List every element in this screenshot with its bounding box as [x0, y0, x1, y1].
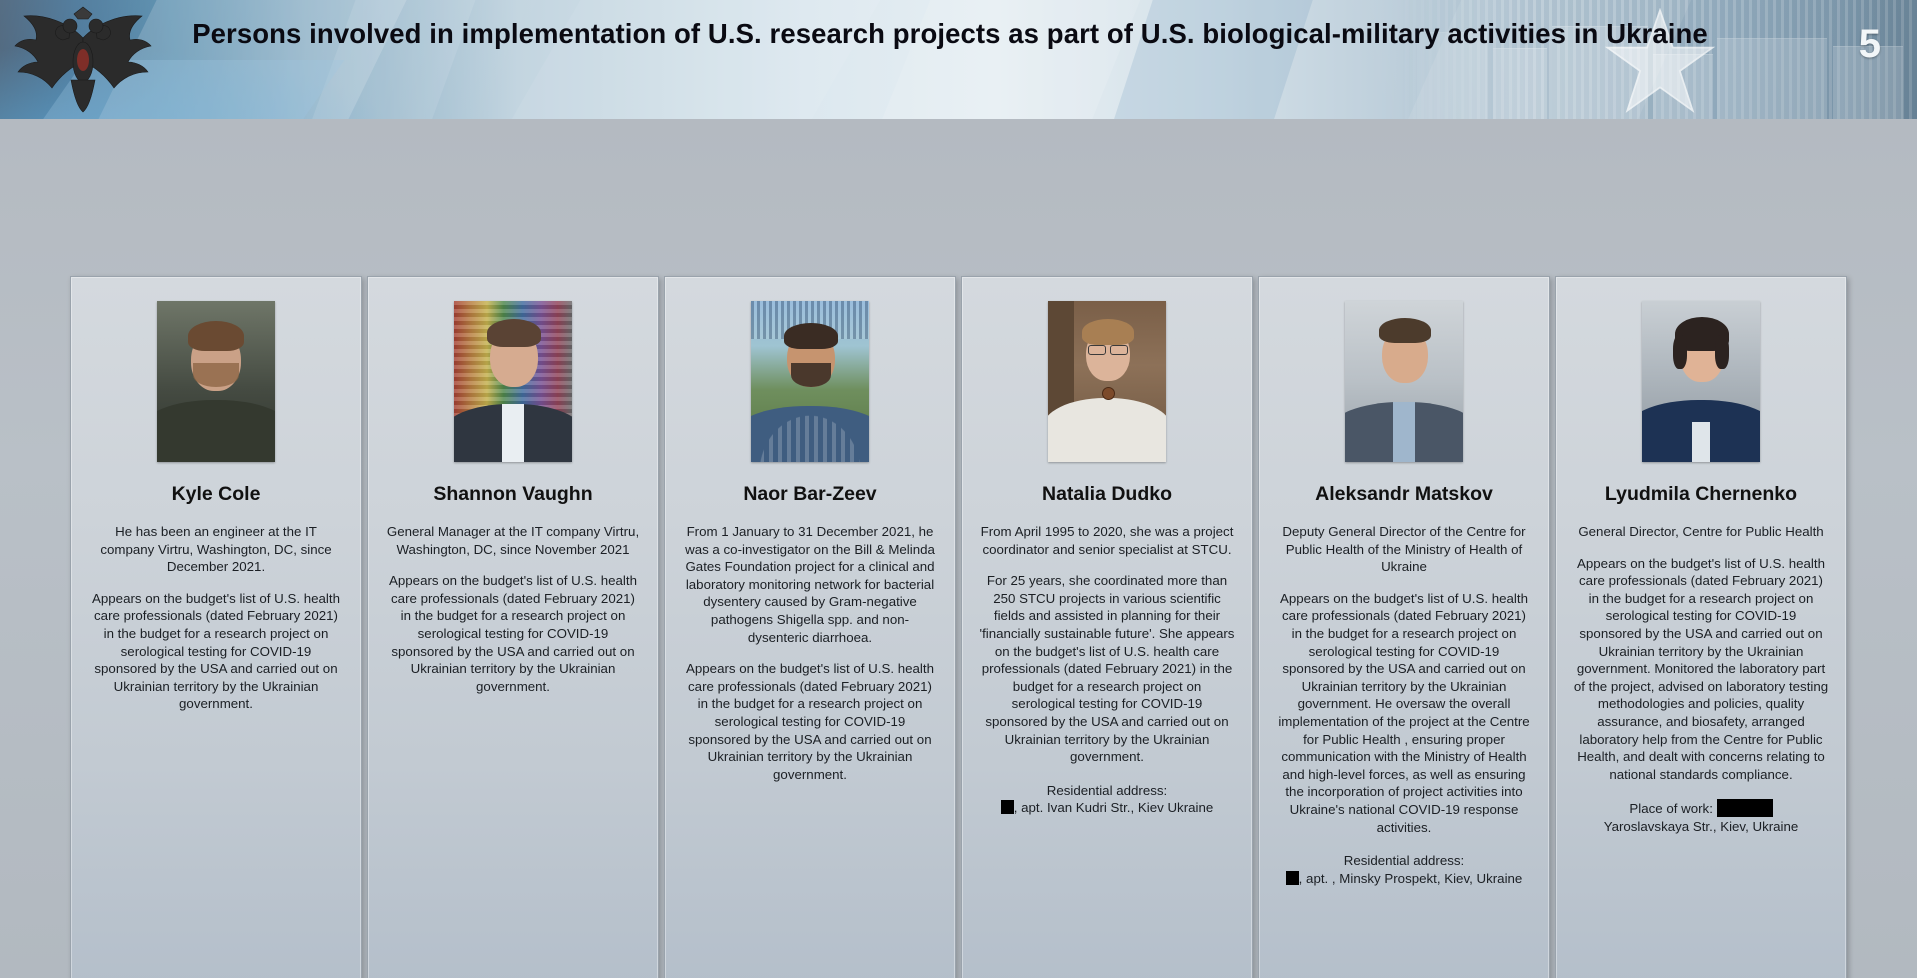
place-of-work-text: Yaroslavskaya Str., Kiev, Ukraine	[1574, 818, 1829, 836]
person-paragraph: From April 1995 to 2020, she was a proje…	[980, 523, 1235, 558]
person-photo	[751, 301, 869, 462]
person-name: Lyudmila Chernenko	[1605, 482, 1797, 506]
person-name: Natalia Dudko	[1042, 482, 1172, 506]
person-card[interactable]: Naor Bar-Zeev From 1 January to 31 Decem…	[664, 276, 956, 978]
place-of-work-line: Place of work:	[1574, 799, 1829, 818]
person-paragraph: Appears on the budget's list of U.S. hea…	[683, 660, 938, 783]
residential-address-label: Residential address:	[1277, 852, 1532, 870]
slide-root: Persons involved in implementation of U.…	[0, 0, 1917, 978]
residential-address-value: , apt. , Minsky Prospekt, Kiev, Ukraine	[1277, 870, 1532, 888]
person-name: Shannon Vaughn	[433, 482, 592, 506]
person-card[interactable]: Kyle Cole He has been an engineer at the…	[70, 276, 362, 978]
person-name: Aleksandr Matskov	[1315, 482, 1493, 506]
person-photo	[1048, 301, 1166, 462]
residential-address-block: Residential address: , apt. Ivan Kudri S…	[980, 782, 1235, 817]
person-paragraph: Appears on the budget's list of U.S. hea…	[1574, 555, 1829, 784]
person-paragraph: Appears on the budget's list of U.S. hea…	[1277, 590, 1532, 836]
person-card[interactable]: Aleksandr Matskov Deputy General Directo…	[1258, 276, 1550, 978]
person-photo	[1642, 301, 1760, 462]
redaction-block	[1001, 800, 1014, 814]
person-name: Naor Bar-Zeev	[743, 482, 876, 506]
person-card[interactable]: Shannon Vaughn General Manager at the IT…	[367, 276, 659, 978]
russian-mod-eagle-emblem-icon	[8, 4, 158, 116]
person-paragraph: Deputy General Director of the Centre fo…	[1277, 523, 1532, 576]
person-photo	[454, 301, 572, 462]
person-paragraph: General Director, Centre for Public Heal…	[1574, 523, 1829, 541]
residential-address-value: , apt. Ivan Kudri Str., Kiev Ukraine	[980, 799, 1235, 817]
residential-address-label: Residential address:	[980, 782, 1235, 800]
residential-address-block: Residential address: , apt. , Minsky Pro…	[1277, 852, 1532, 887]
person-card[interactable]: Lyudmila Chernenko General Director, Cen…	[1555, 276, 1847, 978]
residential-address-text: , apt. Ivan Kudri Str., Kiev Ukraine	[1014, 800, 1214, 815]
person-paragraph: He has been an engineer at the IT compan…	[89, 523, 344, 576]
slide-body: Kyle Cole He has been an engineer at the…	[0, 119, 1917, 978]
place-of-work-block: Place of work: Yaroslavskaya Str., Kiev,…	[1574, 799, 1829, 835]
redaction-block	[1717, 799, 1773, 817]
person-card[interactable]: Natalia Dudko From April 1995 to 2020, s…	[961, 276, 1253, 978]
residential-address-text: , apt. , Minsky Prospekt, Kiev, Ukraine	[1299, 871, 1523, 886]
page-title: Persons involved in implementation of U.…	[150, 14, 1750, 54]
person-card-row: Kyle Cole He has been an engineer at the…	[70, 276, 1860, 978]
person-paragraph: From 1 January to 31 December 2021, he w…	[683, 523, 938, 646]
person-photo	[157, 301, 275, 462]
place-of-work-label: Place of work:	[1629, 801, 1713, 816]
slide-header-banner: Persons involved in implementation of U.…	[0, 0, 1917, 119]
slide-number: 5	[1859, 22, 1881, 67]
person-paragraph: General Manager at the IT company Virtru…	[386, 523, 641, 558]
person-photo	[1345, 301, 1463, 462]
person-paragraph: Appears on the budget's list of U.S. hea…	[386, 572, 641, 695]
person-name: Kyle Cole	[172, 482, 261, 506]
person-paragraph: Appears on the budget's list of U.S. hea…	[89, 590, 344, 713]
person-paragraph: For 25 years, she coordinated more than …	[980, 572, 1235, 766]
redaction-block	[1286, 871, 1299, 885]
